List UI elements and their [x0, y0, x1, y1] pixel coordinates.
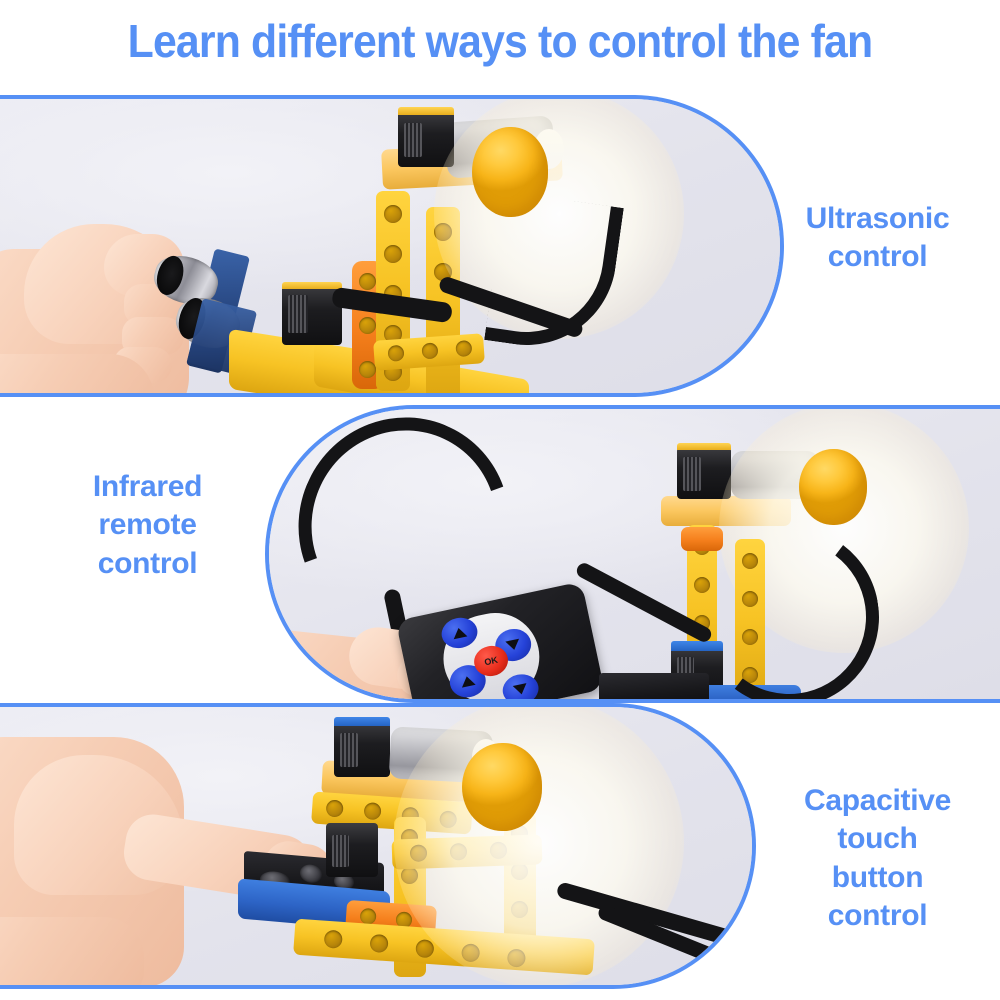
panel-infrared: OK [265, 405, 1000, 703]
yellow-fan-cap [799, 449, 867, 525]
caption-capacitive: Capacitive touch button control [765, 782, 990, 936]
caption-line: control [770, 238, 985, 276]
caption-infrared: Infrared remote control [35, 468, 260, 583]
photo-infrared-scene: OK [269, 409, 1000, 699]
down-arrow-icon [513, 683, 529, 696]
panel-ultrasonic [0, 95, 784, 397]
panel-capacitive [0, 703, 756, 989]
caption-line: touch [765, 820, 990, 858]
caption-line: control [35, 545, 260, 583]
yellow-fan-cap [462, 743, 542, 831]
caption-line: remote [35, 506, 260, 544]
page-title: Learn different ways to control the fan [35, 14, 965, 68]
left-arrow-icon [460, 675, 476, 688]
ok-button-label: OK [483, 655, 498, 668]
up-arrow-icon [452, 627, 468, 640]
controller-board [599, 673, 709, 703]
photo-capacitive-scene [0, 707, 752, 985]
touch-pad [300, 864, 322, 884]
right-arrow-icon [505, 639, 521, 652]
caption-line: Infrared [35, 468, 260, 506]
caption-line: button [765, 859, 990, 897]
caption-line: Capacitive [765, 782, 990, 820]
caption-line: Ultrasonic [770, 200, 985, 238]
caption-ultrasonic: Ultrasonic control [770, 200, 985, 277]
orange-lego-beam [681, 527, 723, 551]
caption-line: control [765, 897, 990, 935]
fan-motion-blur [394, 703, 684, 987]
photo-ultrasonic-scene [0, 99, 780, 393]
